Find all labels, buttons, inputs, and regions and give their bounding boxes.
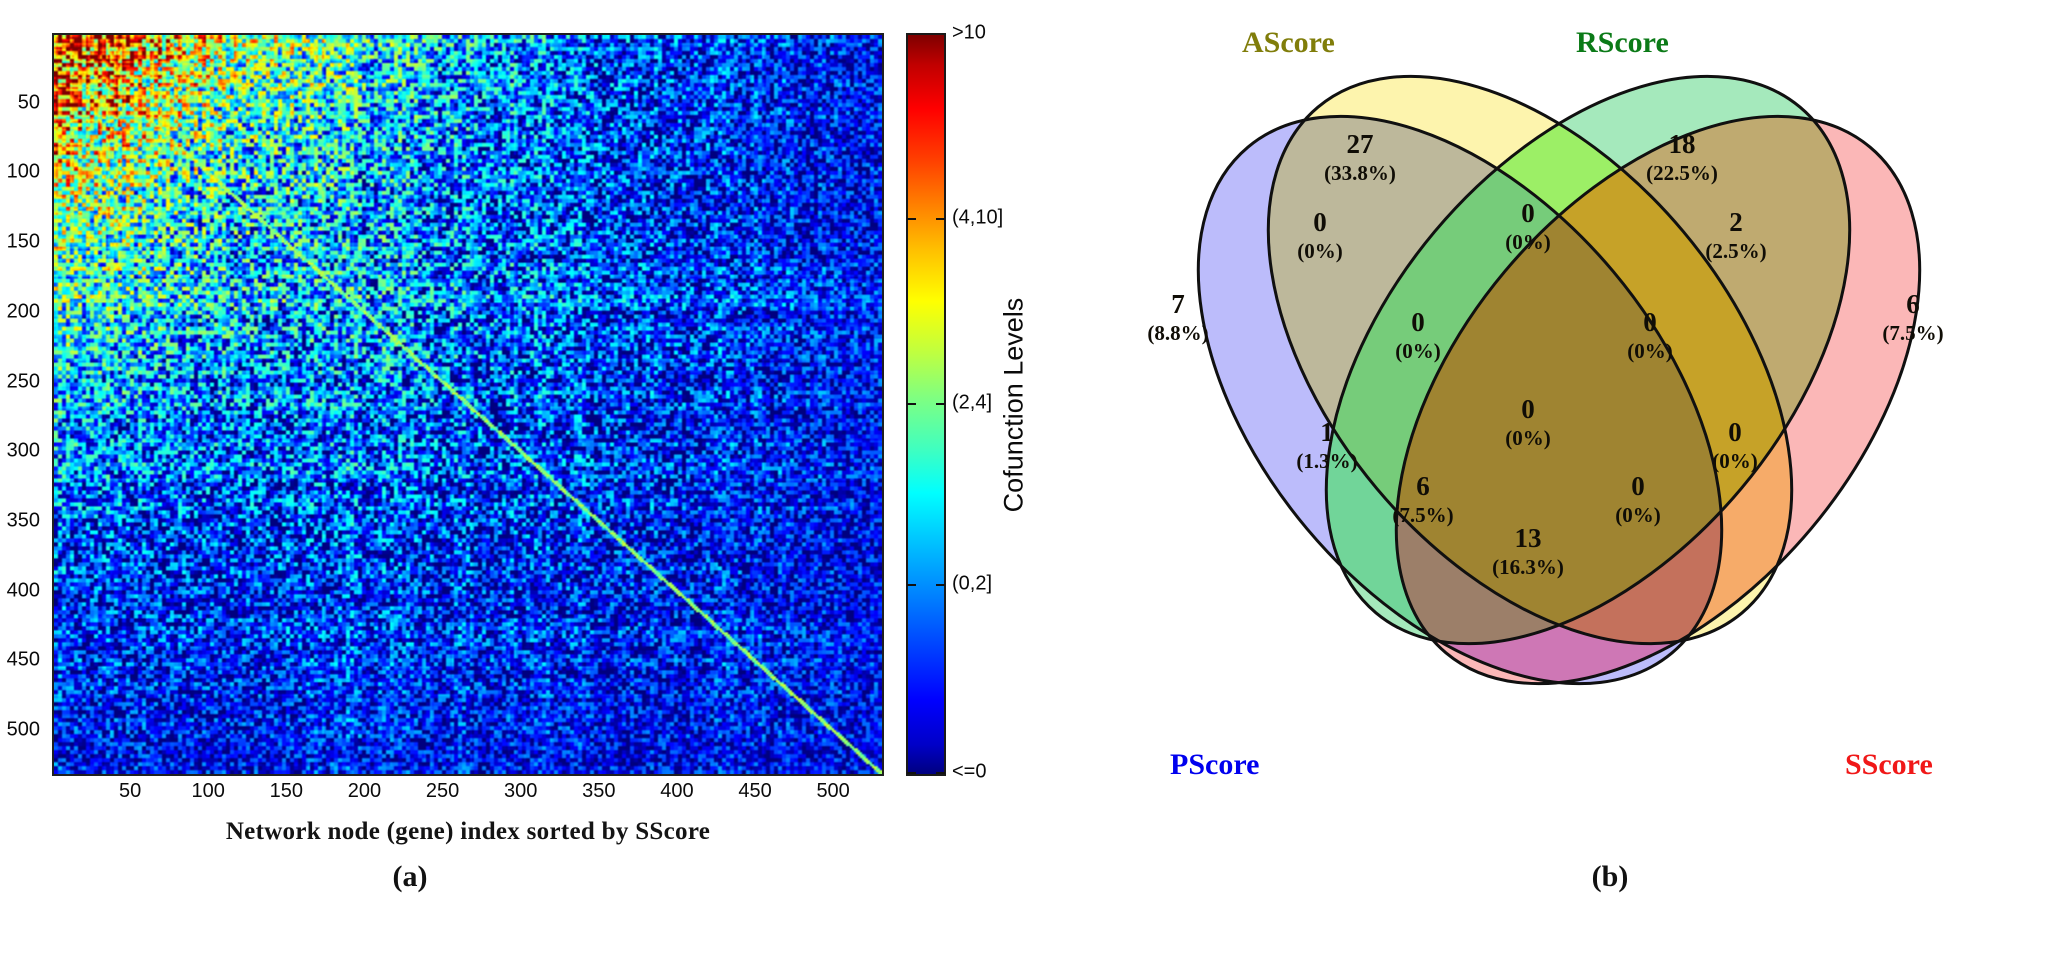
heatmap-x-axis-ticks: 50100150200250300350400450500 [52, 780, 884, 814]
colorbar-tick-mark [907, 772, 916, 774]
heatmap-image [54, 35, 882, 774]
heatmap-y-axis-ticks: 50100150200250300350400450500 [0, 33, 46, 776]
colorbar-tick-label: (2,4] [952, 391, 992, 414]
heatmap-x-tick-label: 300 [504, 780, 537, 803]
panel-b-venn: 7(8.8%)27(33.8%)18(22.5%)6(7.5%)0(0%)0(0… [1060, 0, 2058, 958]
panel-b-caption: (b) [1530, 860, 1690, 894]
heatmap-x-tick-label: 400 [660, 780, 693, 803]
colorbar-tick-mark [936, 772, 945, 774]
heatmap-plot-area [52, 33, 884, 776]
heatmap-y-tick-label: 200 [7, 300, 40, 323]
heatmap-y-tick-label: 300 [7, 440, 40, 463]
heatmap-x-tick-label: 250 [426, 780, 459, 803]
heatmap-x-tick-label: 150 [270, 780, 303, 803]
heatmap-x-tick-label: 450 [738, 780, 771, 803]
heatmap-x-tick-label: 100 [192, 780, 225, 803]
venn-diagram: 7(8.8%)27(33.8%)18(22.5%)6(7.5%)0(0%)0(0… [1060, 0, 2058, 830]
figure-root: 50100150200250300350400450500 5010015020… [0, 0, 2058, 958]
panel-a-heatmap: 50100150200250300350400450500 5010015020… [0, 0, 1060, 958]
venn-set-label-sscore: SScore [1845, 748, 1933, 782]
colorbar-gradient [906, 33, 946, 776]
panel-a-caption: (a) [330, 860, 490, 894]
heatmap-y-tick-label: 250 [7, 370, 40, 393]
colorbar-tick-mark [907, 218, 916, 220]
heatmap-x-tick-label: 500 [816, 780, 849, 803]
colorbar-tick-mark [936, 218, 945, 220]
colorbar-tick-label: >10 [952, 22, 986, 45]
colorbar-tick-mark [936, 403, 945, 405]
colorbar-title-text: Cofunction Levels [999, 297, 1030, 512]
heatmap-y-tick-label: 50 [18, 91, 40, 114]
heatmap-y-tick-label: 450 [7, 649, 40, 672]
colorbar-tick-label: <=0 [952, 761, 986, 784]
colorbar-tick-label: (0,2] [952, 572, 992, 595]
heatmap-x-tick-label: 50 [119, 780, 141, 803]
heatmap-y-tick-label: 400 [7, 579, 40, 602]
heatmap-x-axis-title: Network node (gene) index sorted by SSco… [52, 818, 884, 846]
heatmap-y-tick-label: 100 [7, 161, 40, 184]
colorbar-tick-mark [907, 584, 916, 586]
heatmap-y-tick-label: 350 [7, 510, 40, 533]
colorbar-group: >10(4,10](2,4](0,2]<=0 [906, 33, 952, 776]
colorbar-tick-mark [907, 403, 916, 405]
venn-set-label-pscore: PScore [1170, 748, 1259, 782]
venn-set-label-rscore: RScore [1576, 26, 1669, 60]
heatmap-x-tick-label: 350 [582, 780, 615, 803]
venn-set-label-ascore: AScore [1242, 26, 1335, 60]
heatmap-y-tick-label: 500 [7, 719, 40, 742]
heatmap-y-tick-label: 150 [7, 231, 40, 254]
colorbar-axis-title: Cofunction Levels [994, 33, 1034, 776]
heatmap-x-tick-label: 200 [348, 780, 381, 803]
colorbar-tick-mark [936, 584, 945, 586]
